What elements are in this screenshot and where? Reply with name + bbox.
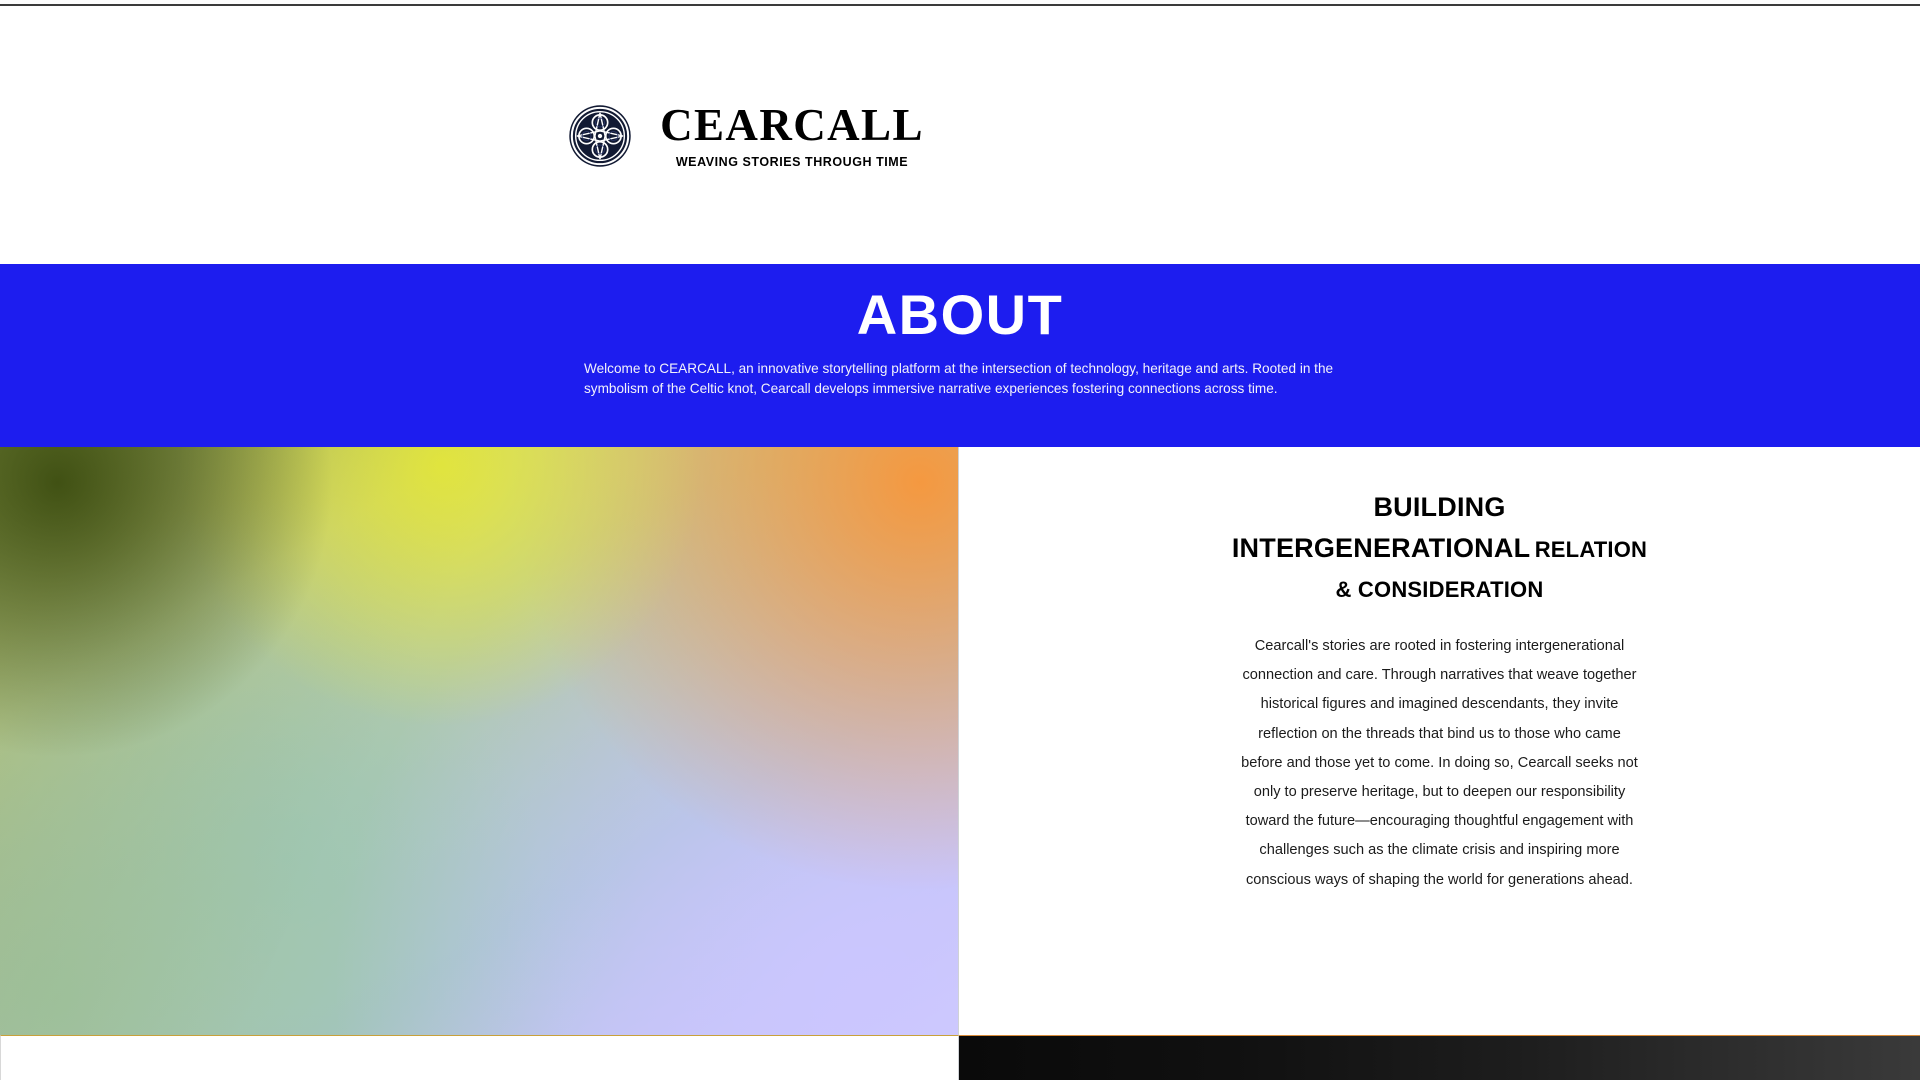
about-paragraph: Welcome to CEARCALL, an innovative story… — [584, 359, 1336, 399]
brand-name: CEARCALL — [660, 103, 924, 149]
brand-lockup[interactable]: CEARCALL WEAVING STORIES THROUGH TIME — [568, 103, 924, 169]
heading-line-3: & CONSIDERATION — [1336, 577, 1544, 602]
gradient-artwork — [0, 447, 959, 1035]
heading-line-1: BUILDING — [1373, 492, 1505, 522]
about-title: ABOUT — [857, 285, 1064, 345]
heading-line-2-small: RELATION — [1535, 537, 1647, 562]
main-content: BUILDING INTERGENERATIONAL RELATION & CO… — [0, 447, 1920, 1035]
page-root: CEARCALL WEAVING STORIES THROUGH TIME AB… — [0, 0, 1920, 1080]
brand-tagline: WEAVING STORIES THROUGH TIME — [676, 155, 908, 169]
bottom-right-dark-panel — [959, 1035, 1920, 1080]
info-body-paragraph: Cearcall's stories are rooted in fosteri… — [1240, 632, 1640, 895]
about-section: ABOUT Welcome to CEARCALL, an innovative… — [0, 264, 1920, 447]
brand-text-block: CEARCALL WEAVING STORIES THROUGH TIME — [660, 103, 924, 169]
bottom-left-panel — [0, 1035, 959, 1080]
celtic-knot-icon — [568, 104, 632, 168]
info-heading: BUILDING INTERGENERATIONAL RELATION & CO… — [1190, 489, 1690, 611]
info-panel: BUILDING INTERGENERATIONAL RELATION & CO… — [959, 447, 1920, 1035]
heading-line-2-large: INTERGENERATIONAL — [1232, 533, 1530, 563]
bottom-strip — [0, 1035, 1920, 1080]
top-rule — [0, 0, 1920, 6]
site-header: CEARCALL WEAVING STORIES THROUGH TIME — [0, 8, 1920, 264]
